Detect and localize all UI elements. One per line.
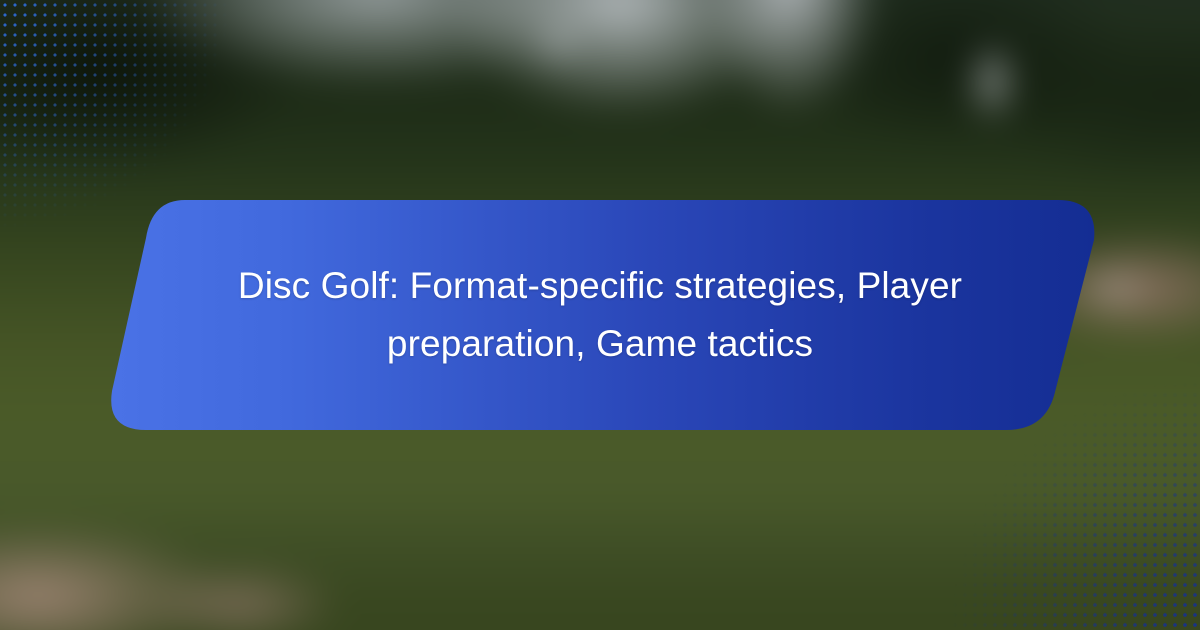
title-banner: Disc Golf: Format-specific strategies, P…: [0, 0, 1200, 630]
banner-title-line-2: preparation, Game tactics: [387, 315, 813, 373]
social-share-card: Disc Golf: Format-specific strategies, P…: [0, 0, 1200, 630]
banner-title-line-1: Disc Golf: Format-specific strategies, P…: [238, 257, 962, 315]
banner-title: Disc Golf: Format-specific strategies, P…: [180, 200, 1020, 430]
